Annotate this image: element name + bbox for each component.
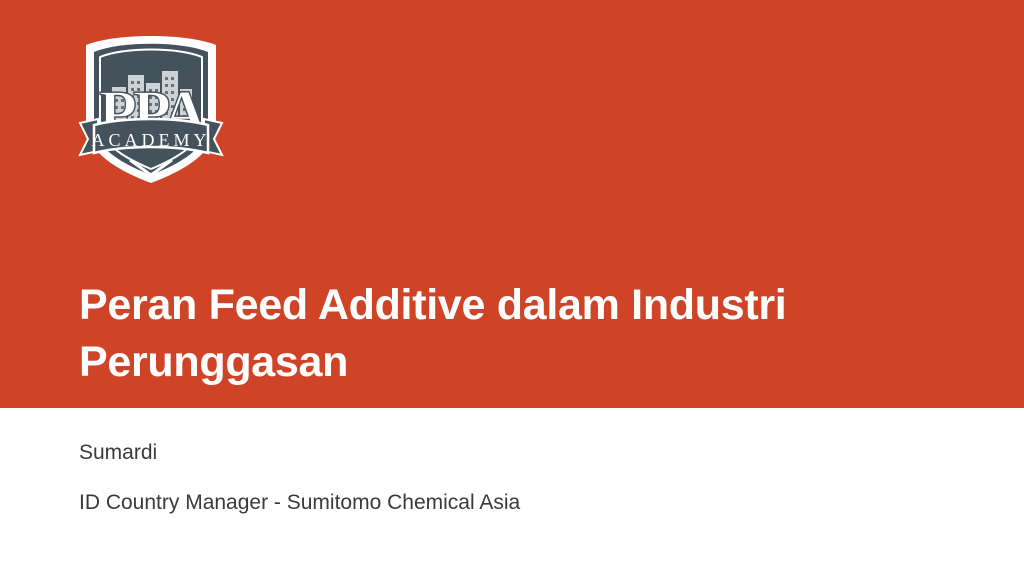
presentation-slide: PPA ACADEMY Peran Feed Additive dalam In…	[0, 0, 1024, 576]
ppa-academy-logo: PPA ACADEMY	[76, 27, 226, 185]
presenter-role: ID Country Manager - Sumitomo Chemical A…	[79, 488, 959, 518]
slide-title: Peran Feed Additive dalam Industri Perun…	[79, 277, 959, 391]
logo-banner-text: ACADEMY	[91, 130, 210, 150]
presenter-info: Sumardi ID Country Manager - Sumitomo Ch…	[79, 438, 959, 518]
presenter-name: Sumardi	[79, 438, 959, 468]
